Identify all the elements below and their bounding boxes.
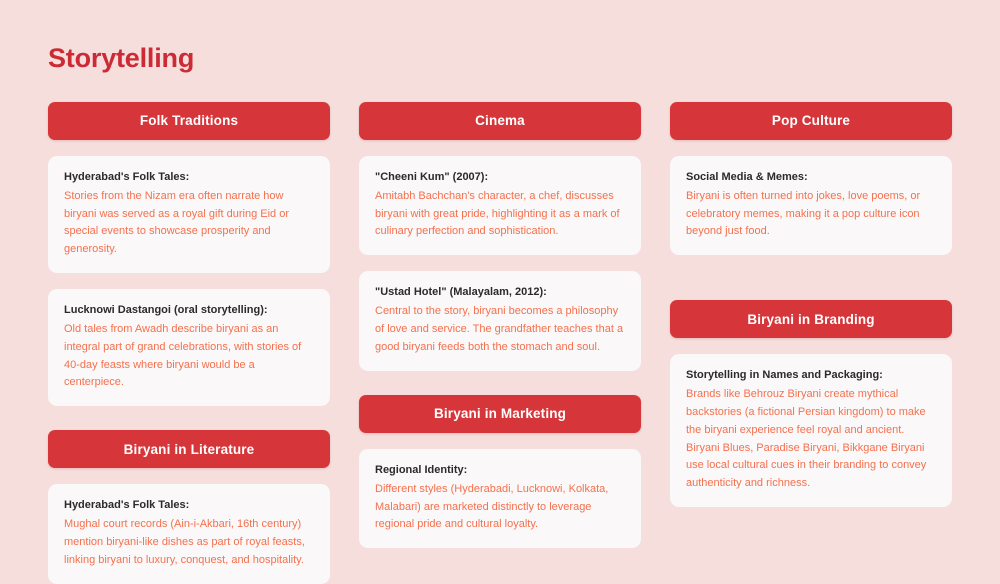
card-label: "Cheeni Kum" (2007): [375, 169, 625, 186]
card-body: Central to the story, biryani becomes a … [375, 303, 625, 356]
section-header-folk-traditions[interactable]: Folk Traditions [48, 102, 330, 140]
section-biryani-in-literature: Biryani in Literature Hyderabad's Folk T… [48, 430, 330, 583]
section-folk-traditions: Folk Traditions Hyderabad's Folk Tales: … [48, 102, 330, 407]
card-body: Biryani is often turned into jokes, love… [686, 188, 936, 241]
infographic-page: Storytelling Folk Traditions Hyderabad's… [0, 0, 1000, 563]
section-pop-culture: Pop Culture Social Media & Memes: Biryan… [670, 102, 952, 255]
card-body: Different styles (Hyderabadi, Lucknowi, … [375, 481, 625, 534]
card-label: Hyderabad's Folk Tales: [64, 497, 314, 514]
section-header-pop-culture[interactable]: Pop Culture [670, 102, 952, 140]
section-header-biryani-in-branding[interactable]: Biryani in Branding [670, 300, 952, 338]
card-label: Storytelling in Names and Packaging: [686, 367, 936, 384]
section-header-biryani-in-literature[interactable]: Biryani in Literature [48, 430, 330, 468]
columns-container: Folk Traditions Hyderabad's Folk Tales: … [48, 102, 952, 584]
card-body: Brands like Behrouz Biryani create mythi… [686, 386, 936, 439]
column-pop-culture: Pop Culture Social Media & Memes: Biryan… [670, 102, 952, 507]
card-label: "Ustad Hotel" (Malayalam, 2012): [375, 284, 625, 301]
card-body: Old tales from Awadh describe biryani as… [64, 321, 314, 392]
page-title: Storytelling [48, 44, 952, 74]
section-header-biryani-in-marketing[interactable]: Biryani in Marketing [359, 395, 641, 433]
section-biryani-in-branding: Biryani in Branding Storytelling in Name… [670, 300, 952, 507]
card-label: Social Media & Memes: [686, 169, 936, 186]
card-ustad-hotel: "Ustad Hotel" (Malayalam, 2012): Central… [359, 271, 641, 370]
section-biryani-in-marketing: Biryani in Marketing Regional Identity: … [359, 395, 641, 548]
column-folk-traditions: Folk Traditions Hyderabad's Folk Tales: … [48, 102, 330, 584]
card-lucknowi-dastangoi: Lucknowi Dastangoi (oral storytelling): … [48, 289, 330, 406]
card-cheeni-kum: "Cheeni Kum" (2007): Amitabh Bachchan's … [359, 156, 641, 255]
card-body: Stories from the Nizam era often narrate… [64, 188, 314, 259]
card-body: Amitabh Bachchan's character, a chef, di… [375, 188, 625, 241]
card-label: Hyderabad's Folk Tales: [64, 169, 314, 186]
card-hyderabad-folk-tales: Hyderabad's Folk Tales: Stories from the… [48, 156, 330, 273]
section-header-cinema[interactable]: Cinema [359, 102, 641, 140]
card-regional-identity: Regional Identity: Different styles (Hyd… [359, 449, 641, 548]
card-label: Lucknowi Dastangoi (oral storytelling): [64, 302, 314, 319]
card-social-media-memes: Social Media & Memes: Biryani is often t… [670, 156, 952, 255]
card-label: Regional Identity: [375, 462, 625, 479]
card-body: Biryani Blues, Paradise Biryani, Bikkgan… [686, 440, 936, 493]
card-storytelling-names-packaging: Storytelling in Names and Packaging: Bra… [670, 354, 952, 507]
section-cinema: Cinema "Cheeni Kum" (2007): Amitabh Bach… [359, 102, 641, 371]
card-mughal-court-records: Hyderabad's Folk Tales: Mughal court rec… [48, 484, 330, 583]
column-cinema: Cinema "Cheeni Kum" (2007): Amitabh Bach… [359, 102, 641, 548]
card-body: Mughal court records (Ain-i-Akbari, 16th… [64, 516, 314, 569]
